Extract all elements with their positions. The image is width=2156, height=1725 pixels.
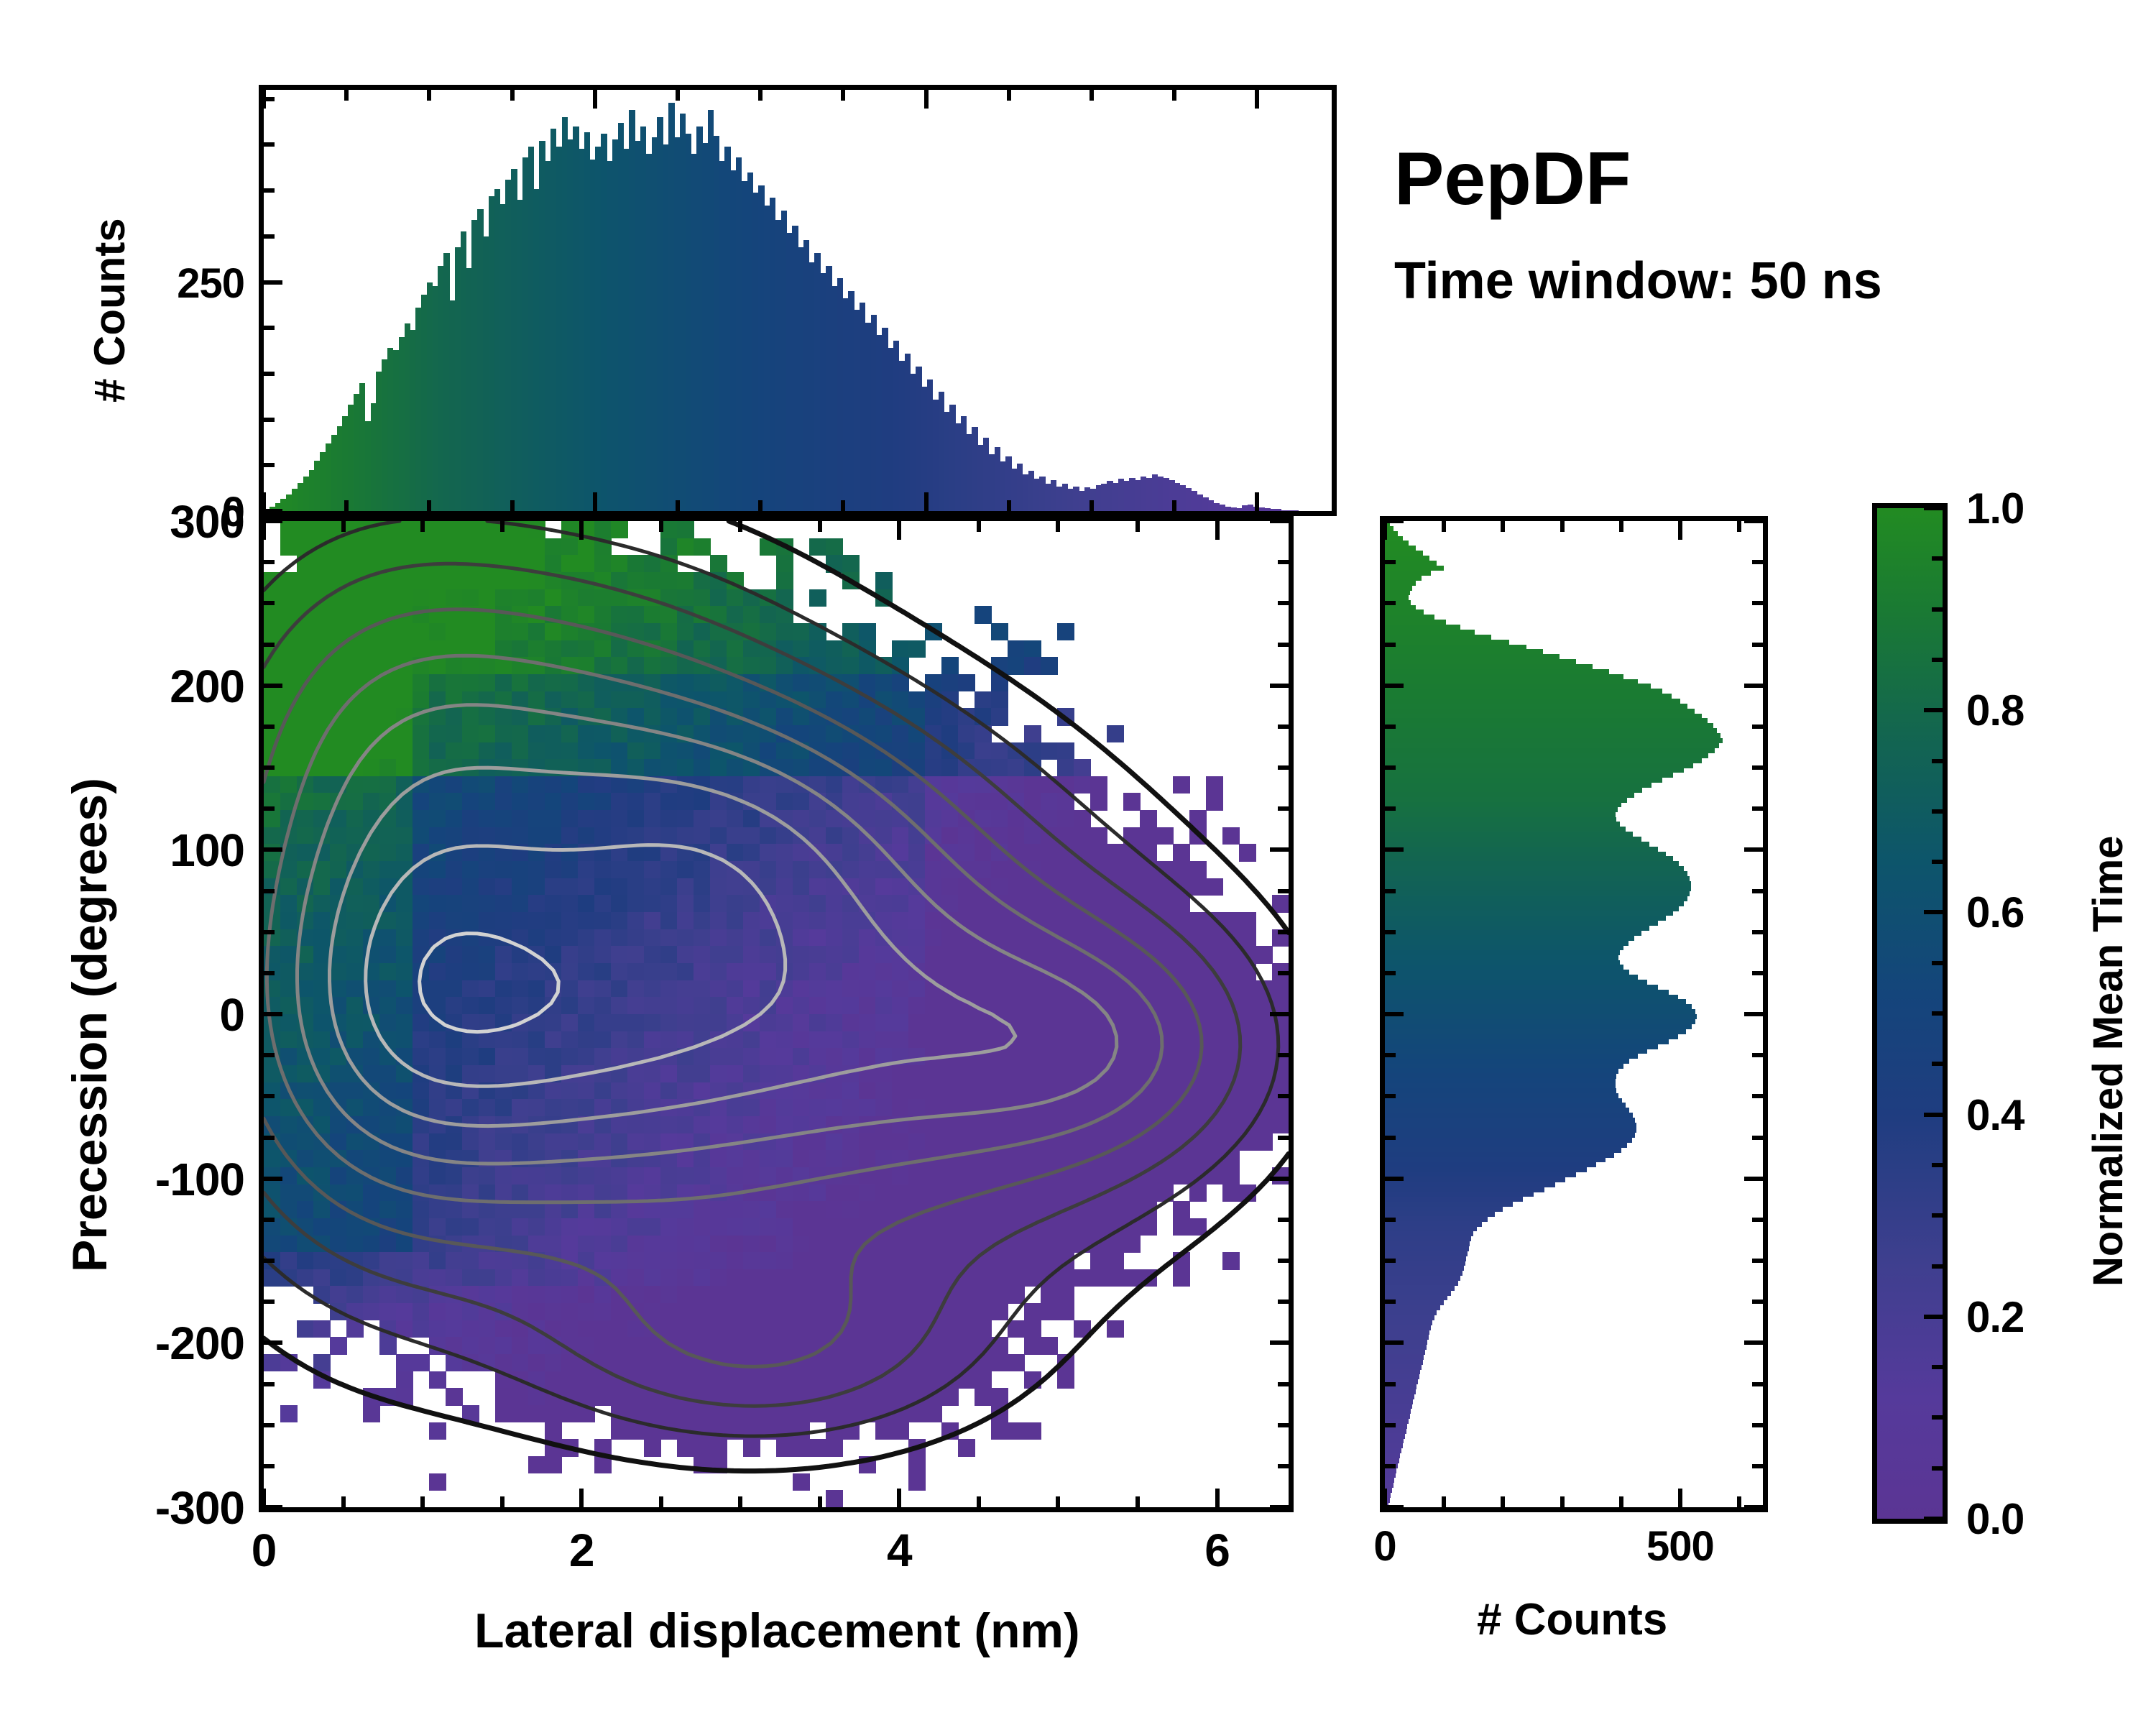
main-xticklabel: 6 <box>1110 1524 1325 1577</box>
main-xtick-minor <box>341 1496 346 1507</box>
right-histogram-ytick-minor-right <box>1752 765 1763 770</box>
right-histogram-ytick-minor <box>1385 1299 1396 1304</box>
main-ytick-minor <box>264 889 275 893</box>
colorbar-tick-minor <box>1932 607 1943 612</box>
right-histogram-ytick-minor <box>1385 643 1396 647</box>
right-histogram-ytick-major-right <box>1744 519 1763 523</box>
top-histogram-xtick-major-top <box>1255 90 1259 109</box>
colorbar-tick-minor <box>1932 1062 1943 1066</box>
main-ytick-minor <box>264 1464 275 1468</box>
top-histogram-xtick-major <box>924 492 929 511</box>
right-histogram-ytick-minor-right <box>1752 930 1763 934</box>
right-histogram-ytick-minor <box>1385 1382 1396 1386</box>
main-xtick-minor-top <box>420 521 425 532</box>
colorbar-ticklabel: 0.6 <box>1966 888 2024 937</box>
main-ytick-major-right <box>1270 1505 1289 1509</box>
main-xtick-minor <box>420 1496 425 1507</box>
right-histogram-ytick-minor <box>1385 765 1396 770</box>
top-histogram-yticklabel: 250 <box>50 259 244 308</box>
top-histogram-xtick-minor-top <box>841 90 845 101</box>
main-ytick-minor-right <box>1278 1259 1289 1263</box>
top-histogram-xtick-minor-top <box>1172 90 1176 101</box>
right-histogram-ytick-minor-right <box>1752 560 1763 564</box>
main-ytick-major <box>264 519 282 523</box>
right-histogram-xtick-minor <box>1442 1496 1446 1507</box>
right-histogram-ytick-minor-right <box>1752 724 1763 729</box>
colorbar-tick-major <box>1924 1517 1943 1521</box>
right-histogram-ytick-minor <box>1385 930 1396 934</box>
main-xtick-major-top <box>1215 521 1220 540</box>
main-xtick-minor-top <box>500 521 505 532</box>
top-histogram-ytick-major <box>264 509 282 513</box>
right-histogram-ytick-minor-right <box>1752 1136 1763 1140</box>
colorbar-ticklabel: 0.8 <box>1966 686 2024 735</box>
colorbar-tick-minor <box>1932 759 1943 763</box>
colorbar-tick-minor <box>1932 1163 1943 1167</box>
colorbar-tick-major <box>1924 1113 1943 1117</box>
main-xtick-minor-top <box>659 521 663 532</box>
right-histogram-ytick-major <box>1385 1505 1404 1509</box>
top-histogram-ytick-minor <box>264 418 275 422</box>
right-histogram-ytick-major-right <box>1744 1177 1763 1181</box>
right-histogram-ytick-major-right <box>1744 684 1763 688</box>
top-histogram-xtick-minor-top <box>344 90 349 101</box>
main-ytick-minor <box>264 930 275 934</box>
top-histogram-xtick-minor-top <box>758 90 763 101</box>
right-histogram-ytick-minor <box>1385 971 1396 975</box>
right-histogram-ytick-minor <box>1385 1218 1396 1222</box>
main-ytick-major <box>264 1340 282 1345</box>
right-histogram-ytick-minor-right <box>1752 806 1763 811</box>
main-ytick-minor-right <box>1278 601 1289 605</box>
colorbar-ticklabel: 0.4 <box>1966 1090 2024 1140</box>
main-xticklabel: 2 <box>474 1524 689 1577</box>
main-yticklabel: 200 <box>29 660 244 713</box>
main-xtick-minor <box>1056 1496 1060 1507</box>
main-ytick-minor-right <box>1278 1299 1289 1304</box>
colorbar-ticklabel: 0.0 <box>1966 1494 2024 1544</box>
top-histogram-xtick-minor <box>758 500 763 511</box>
main-ytick-minor-right <box>1278 1136 1289 1140</box>
right-histogram-xtick-minor-top <box>1619 521 1623 532</box>
main-ytick-minor-right <box>1278 971 1289 975</box>
right-histogram-ytick-major-right <box>1744 1340 1763 1345</box>
main-ytick-minor <box>264 765 275 770</box>
right-histogram-ytick-minor-right <box>1752 1218 1763 1222</box>
top-histogram-xtick-minor <box>510 500 515 511</box>
main-ytick-minor <box>264 643 275 647</box>
colorbar-tick-minor <box>1932 1466 1943 1471</box>
main-xtick-major-top <box>579 521 584 540</box>
right-histogram-ytick-major-right <box>1744 1505 1763 1509</box>
colorbar-tick-major <box>1924 910 1943 914</box>
main-ytick-minor <box>264 601 275 605</box>
main-xtick-minor <box>500 1496 505 1507</box>
right-histogram-xtick-major-top <box>1383 521 1387 540</box>
right-histogram-ytick-major-right <box>1744 1012 1763 1016</box>
right-histogram-xtick-minor <box>1619 1496 1623 1507</box>
colorbar-tick-minor <box>1932 1011 1943 1016</box>
main-xtick-minor-top <box>818 521 822 532</box>
right-histogram-ytick-minor <box>1385 1094 1396 1098</box>
main-ytick-minor <box>264 560 275 564</box>
main-xtick-major <box>1215 1489 1220 1507</box>
main-ytick-minor-right <box>1278 930 1289 934</box>
top-histogram-xtick-major-top <box>593 90 597 109</box>
right-histogram-ytick-minor <box>1385 1423 1396 1427</box>
colorbar-tick-minor <box>1932 1264 1943 1269</box>
main-ytick-minor <box>264 971 275 975</box>
right-histogram-ytick-minor-right <box>1752 1382 1763 1386</box>
right-histogram-ytick-minor <box>1385 1053 1396 1057</box>
right-histogram-ytick-major <box>1385 847 1404 852</box>
main-xtick-major-top <box>897 521 901 540</box>
colorbar-tick-minor <box>1932 556 1943 561</box>
main-ytick-minor-right <box>1278 1464 1289 1468</box>
main-ytick-minor <box>264 1094 275 1098</box>
right-histogram-ytick-minor-right <box>1752 601 1763 605</box>
top-histogram-xtick-minor <box>841 500 845 511</box>
main-ytick-minor <box>264 1259 275 1263</box>
main-yticklabel: -300 <box>29 1481 244 1535</box>
main-ytick-minor-right <box>1278 889 1289 893</box>
right-histogram-xtick-major <box>1678 1489 1682 1507</box>
colorbar-tick-major <box>1924 708 1943 712</box>
top-histogram-ytick-major <box>264 280 282 285</box>
top-histogram-xtick-major <box>1255 492 1259 511</box>
right-histogram-ytick-minor-right <box>1752 1053 1763 1057</box>
top-histogram-xtick-major-top <box>262 90 266 109</box>
right-histogram-xtick-minor-top <box>1560 521 1565 532</box>
main-ytick-major-right <box>1270 1340 1289 1345</box>
right-histogram-ytick-minor <box>1385 560 1396 564</box>
right-histogram-ytick-minor-right <box>1752 643 1763 647</box>
colorbar-ticklabel: 0.2 <box>1966 1292 2024 1342</box>
top-histogram-ytick-minor <box>264 326 275 330</box>
main-xtick-minor-top <box>1056 521 1060 532</box>
top-histogram-ytick-minor <box>264 142 275 147</box>
main-ytick-major <box>264 1012 282 1016</box>
main-xtick-minor-top <box>738 521 742 532</box>
top-histogram-xtick-minor-top <box>510 90 515 101</box>
right-histogram-ytick-major <box>1385 1012 1404 1016</box>
colorbar-tick-minor <box>1932 1415 1943 1420</box>
main-ytick-minor-right <box>1278 1053 1289 1057</box>
right-histogram-ytick-major <box>1385 684 1404 688</box>
colorbar-tick-minor <box>1932 809 1943 814</box>
colorbar-tick-minor <box>1932 961 1943 965</box>
right-histogram-ytick-minor <box>1385 1136 1396 1140</box>
main-ytick-major <box>264 684 282 688</box>
right-histogram-xtick-minor <box>1737 1496 1741 1507</box>
right-histogram-xtick-minor <box>1560 1496 1565 1507</box>
main-xtick-minor-top <box>1135 521 1140 532</box>
top-histogram-xtick-minor <box>1089 500 1094 511</box>
colorbar-tick-major <box>1924 1315 1943 1319</box>
main-xticklabel: 4 <box>791 1524 1007 1577</box>
right-histogram-ytick-minor-right <box>1752 1464 1763 1468</box>
top-histogram-xtick-major <box>593 492 597 511</box>
top-histogram-xtick-major-top <box>924 90 929 109</box>
main-xtick-major <box>897 1489 901 1507</box>
right-histogram-xtick-minor <box>1501 1496 1505 1507</box>
main-ytick-minor-right <box>1278 765 1289 770</box>
figure-root: # Counts Precession (degrees) Lateral di… <box>0 0 2156 1725</box>
main-yticklabel: 0 <box>29 988 244 1041</box>
right-histogram-ytick-minor-right <box>1752 889 1763 893</box>
main-xtick-major-top <box>262 521 266 540</box>
top-histogram-ytick-minor <box>264 188 275 193</box>
right-histogram-ytick-major <box>1385 519 1404 523</box>
main-ytick-minor <box>264 1136 275 1140</box>
right-histogram-xtick-minor-top <box>1442 521 1446 532</box>
colorbar-tick-minor <box>1932 658 1943 662</box>
main-ytick-minor-right <box>1278 806 1289 811</box>
top-histogram-ytick-minor <box>264 372 275 376</box>
right-histogram-ytick-minor <box>1385 1464 1396 1468</box>
top-histogram-xtick-minor <box>1172 500 1176 511</box>
main-ytick-minor <box>264 1299 275 1304</box>
right-histogram-ytick-minor <box>1385 1259 1396 1263</box>
main-ytick-minor <box>264 1382 275 1386</box>
main-ytick-minor-right <box>1278 1423 1289 1427</box>
main-yticklabel: 300 <box>29 495 244 548</box>
right-histogram-ytick-minor-right <box>1752 1094 1763 1098</box>
main-xtick-minor <box>738 1496 742 1507</box>
main-ytick-minor <box>264 724 275 729</box>
main-ytick-minor <box>264 1053 275 1057</box>
main-ytick-major <box>264 847 282 852</box>
top-histogram-xtick-minor-top <box>1007 90 1011 101</box>
main-ytick-minor <box>264 806 275 811</box>
main-xtick-minor <box>1135 1496 1140 1507</box>
main-ytick-minor-right <box>1278 1218 1289 1222</box>
right-histogram-xtick-minor-top <box>1737 521 1741 532</box>
right-histogram-ytick-major <box>1385 1177 1404 1181</box>
main-ytick-major-right <box>1270 1012 1289 1016</box>
colorbar-tick-major <box>1924 506 1943 510</box>
main-xtick-minor-top <box>341 521 346 532</box>
main-ytick-major-right <box>1270 847 1289 852</box>
main-ytick-minor <box>264 1218 275 1222</box>
main-xtick-minor <box>818 1496 822 1507</box>
main-ytick-major-right <box>1270 1177 1289 1181</box>
main-ytick-minor-right <box>1278 643 1289 647</box>
top-histogram-xtick-minor-top <box>427 90 431 101</box>
main-ytick-minor-right <box>1278 1382 1289 1386</box>
main-ytick-minor-right <box>1278 1094 1289 1098</box>
top-histogram-xtick-minor <box>427 500 431 511</box>
right-histogram-ytick-minor-right <box>1752 971 1763 975</box>
main-yticklabel: -100 <box>29 1153 244 1206</box>
main-xtick-major <box>579 1489 584 1507</box>
top-histogram-xtick-minor-top <box>1089 90 1094 101</box>
top-histogram-xtick-minor <box>344 500 349 511</box>
colorbar-tick-minor <box>1932 1365 1943 1369</box>
top-histogram-ytick-minor <box>264 234 275 239</box>
right-histogram-ytick-major-right <box>1744 847 1763 852</box>
axis-decoration-layer: 0.00.20.40.60.81.0025005000246-300-200-1… <box>0 0 2156 1725</box>
main-yticklabel: -200 <box>29 1317 244 1370</box>
top-histogram-xtick-minor <box>1007 500 1011 511</box>
right-histogram-xticklabel: 500 <box>1572 1522 1788 1570</box>
right-histogram-ytick-minor-right <box>1752 1259 1763 1263</box>
main-ytick-major <box>264 1177 282 1181</box>
right-histogram-ytick-minor <box>1385 601 1396 605</box>
main-ytick-minor-right <box>1278 724 1289 729</box>
main-xtick-minor-top <box>977 521 981 532</box>
colorbar-tick-minor <box>1932 1213 1943 1218</box>
main-ytick-minor-right <box>1278 560 1289 564</box>
colorbar-ticklabel: 1.0 <box>1966 484 2024 533</box>
main-yticklabel: 100 <box>29 824 244 877</box>
right-histogram-ytick-minor <box>1385 806 1396 811</box>
top-histogram-ytick-minor <box>264 463 275 467</box>
right-histogram-ytick-minor-right <box>1752 1423 1763 1427</box>
main-ytick-major-right <box>1270 519 1289 523</box>
top-histogram-xtick-minor-top <box>676 90 680 101</box>
right-histogram-ytick-major <box>1385 1340 1404 1345</box>
right-histogram-ytick-minor-right <box>1752 1299 1763 1304</box>
main-xtick-minor <box>977 1496 981 1507</box>
right-histogram-ytick-minor <box>1385 724 1396 729</box>
main-xtick-minor <box>659 1496 663 1507</box>
right-histogram-xtick-major-top <box>1678 521 1682 540</box>
top-histogram-xtick-minor <box>676 500 680 511</box>
right-histogram-xtick-minor-top <box>1501 521 1505 532</box>
top-histogram-xtick-major <box>262 492 266 511</box>
main-ytick-minor <box>264 1423 275 1427</box>
main-ytick-major-right <box>1270 684 1289 688</box>
colorbar-tick-minor <box>1932 860 1943 864</box>
right-histogram-ytick-minor <box>1385 889 1396 893</box>
main-ytick-major <box>264 1505 282 1509</box>
